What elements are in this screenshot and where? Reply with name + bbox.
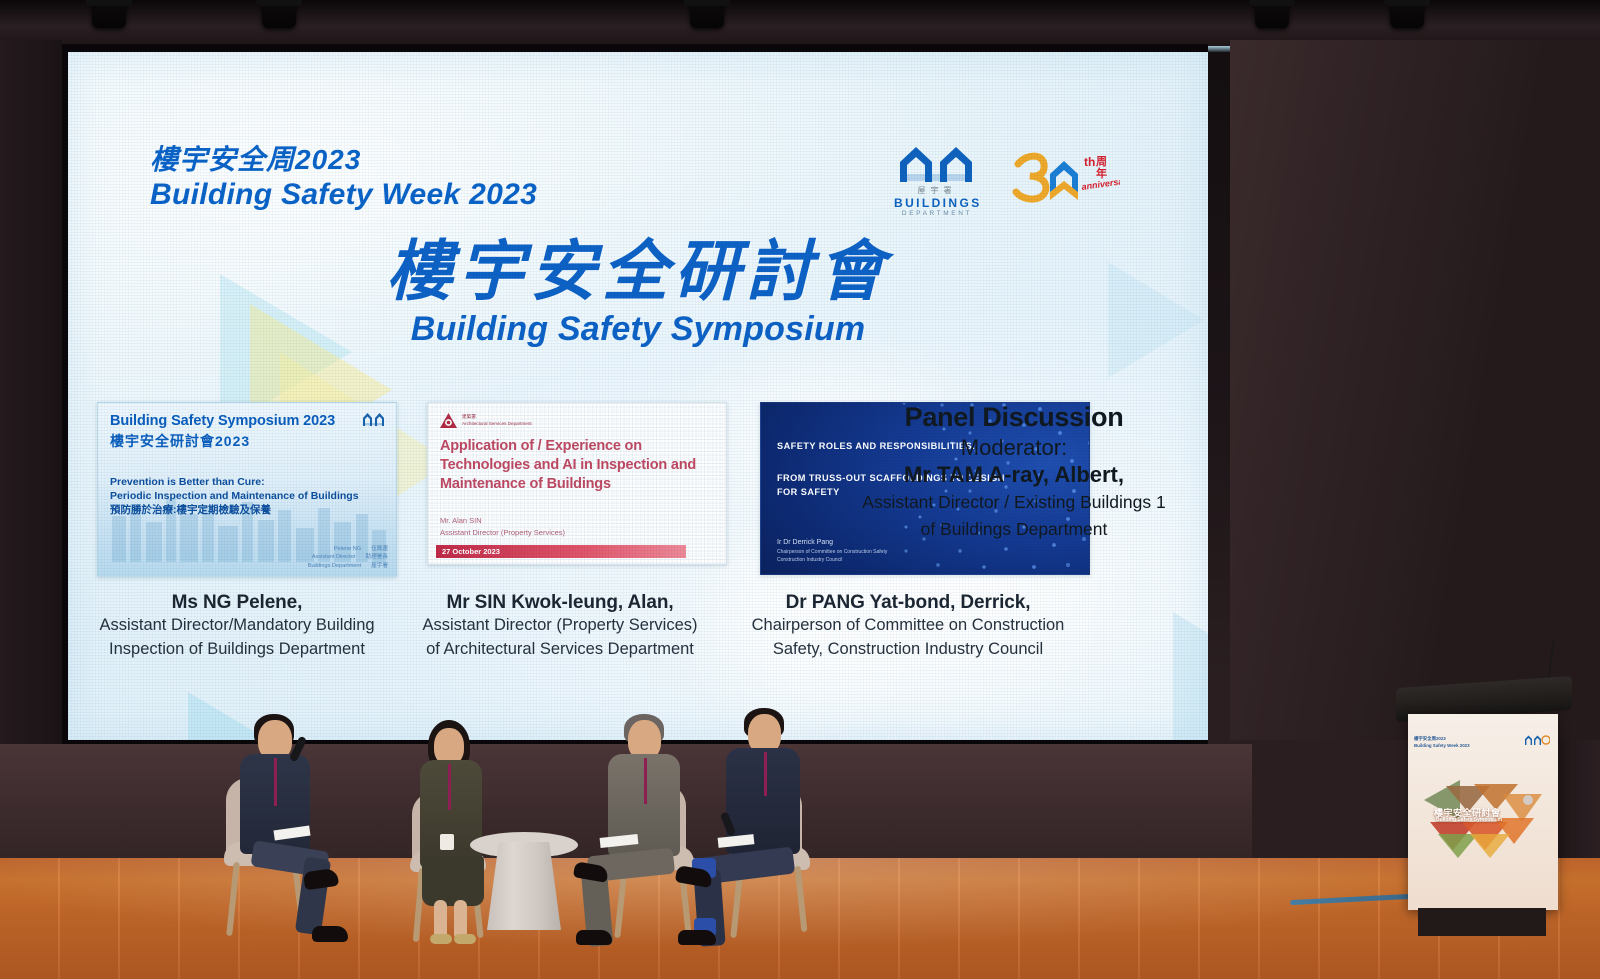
slide-logos: 屋宇署 BUILDINGS DEPARTMENT th 周 年 annivers… (894, 140, 1120, 217)
speaker-3-role-line1: Chairperson of Committee on Construction (728, 614, 1088, 638)
lanyard (448, 764, 451, 810)
panel-discussion-block: Panel Discussion Moderator: Mr TAM A-ray… (854, 402, 1174, 542)
lectern-banner-header: 樓宇安全周2023 Building Safety Week 2023 (1414, 736, 1470, 749)
skirt-lower (422, 856, 484, 906)
thumb3-speaker: Ir Dr Derrick Pang (777, 539, 833, 546)
buildings-department-icon (1524, 734, 1550, 746)
speaker-captions: Ms NG Pelene, Assistant Director/Mandato… (78, 592, 1098, 692)
anniversary-ribbon-icon: th 周 年 anniversary (1010, 148, 1120, 210)
thumbnail-prevention[interactable]: Building Safety Symposium 2023 樓宇安全研討會20… (97, 402, 397, 577)
speaker-3-role-line2: Safety, Construction Industry Council (728, 638, 1088, 662)
thumb3-role-line1: Chairperson of Committee on Construction… (777, 548, 887, 556)
lanyard (764, 752, 767, 796)
buildings-department-icon (362, 411, 386, 427)
side-table-base (487, 842, 561, 930)
buildings-department-logo: 屋宇署 BUILDINGS DEPARTMENT (894, 140, 980, 217)
bd-logo-line2: DEPARTMENT (894, 210, 980, 217)
thumb1-subtitle-zh: 預防勝於治療:樓宇定期檢驗及保養 (110, 504, 359, 518)
shoe (430, 934, 452, 944)
asd-org-en: Architectural Services Department (462, 421, 532, 428)
spotlight-icon (690, 0, 724, 28)
thumb1-subtitle: Prevention is Better than Cure: Periodic… (110, 476, 359, 518)
thumb3-role-line2: Construction Industry Council (777, 556, 887, 564)
shoe (312, 926, 348, 942)
house-arch-icon (894, 140, 980, 184)
chair-leg (795, 866, 808, 932)
dress (420, 760, 482, 868)
slide-title-zh: 樓宇安全研討會 (68, 237, 1208, 306)
panelist-4-moderator (688, 700, 838, 945)
asd-logo: 建築署 Architectural Services Department (440, 413, 532, 428)
lectern-banner-zh: 樓宇安全周2023 (1414, 736, 1470, 743)
panel-moderator-name: Mr TAM A-ray, Albert, (854, 462, 1174, 488)
shoe (576, 930, 612, 945)
event-week-title: 樓宇安全周2023 Building Safety Week 2023 (150, 144, 537, 213)
thumbnail-technologies-ai[interactable]: 建築署 Architectural Services Department Ap… (427, 402, 727, 565)
spotlight-icon (1390, 0, 1424, 28)
event-week-title-zh: 樓宇安全周2023 (150, 144, 537, 176)
speaker-caption-2: Mr SIN Kwok-leung, Alan, Assistant Direc… (400, 592, 720, 662)
thumb2-title: Application of / Experience on Technolog… (440, 437, 716, 494)
slide-main-title: 樓宇安全研討會 Building Safety Symposium (68, 237, 1208, 349)
presentation-slide: 樓宇安全周2023 Building Safety Week 2023 樓宇安全… (68, 52, 1208, 740)
bd-logo-zh: 屋宇署 (894, 185, 980, 196)
thumb1-subtitle-line2: Periodic Inspection and Maintenance of B… (110, 490, 359, 504)
thumb1-credit-name: Pelene NG (334, 545, 361, 553)
chair-leg (226, 862, 240, 936)
lectern-banner: 樓宇安全周2023 Building Safety Week 2023 (1408, 714, 1558, 910)
speaker-2-role-line2: of Architectural Services Department (400, 638, 720, 662)
lectern-title-en: Building Safety Symposium (1436, 817, 1502, 823)
speaker-1-name: Ms NG Pelene, (78, 592, 396, 614)
thumb1-header-zh: 樓宇安全研討會2023 (110, 431, 250, 451)
thumb1-credit-role-zh: 助理署長 (366, 553, 388, 561)
slide-title-en: Building Safety Symposium (68, 310, 1208, 349)
speaker-2-role-line1: Assistant Director (Property Services) (400, 614, 720, 638)
thumb1-credit-role: Assistant Director (312, 553, 356, 561)
speaker-caption-1: Ms NG Pelene, Assistant Director/Mandato… (78, 592, 396, 662)
shoe (303, 868, 339, 891)
asd-logo-text: 建築署 Architectural Services Department (462, 414, 532, 428)
lanyard (644, 758, 647, 804)
speaker-2-name: Mr SIN Kwok-leung, Alan, (400, 592, 720, 614)
anniversary-logo: th 周 年 anniversary (1010, 148, 1120, 210)
svg-text:th: th (1084, 155, 1095, 169)
bd-logo-line1: BUILDINGS (894, 196, 980, 210)
thumb1-credit-dept-zh: 屋宇署 (371, 562, 388, 570)
panel-moderator-label: Moderator: (854, 435, 1174, 461)
speaker-3-name: Dr PANG Yat-bond, Derrick, (728, 592, 1088, 614)
shoe (454, 934, 476, 944)
thumb3-role: Chairperson of Committee on Construction… (777, 548, 887, 564)
panel-moderator-role-line1: Assistant Director / Existing Buildings … (854, 490, 1174, 515)
panel-heading: Panel Discussion (854, 402, 1174, 433)
spotlight-icon (1255, 0, 1289, 28)
thumb2-speaker-block: Mr. Alan SIN Assistant Director (Propert… (440, 515, 565, 538)
asd-triangle-icon (440, 413, 457, 428)
cup (440, 834, 454, 850)
thumb1-header-en: Building Safety Symposium 2023 (110, 413, 335, 429)
thumb1-credit: Pelene NG伍鳳蓮 Assistant Director助理署長 Buil… (308, 545, 388, 570)
spotlight-icon (92, 0, 126, 28)
speaker-caption-3: Dr PANG Yat-bond, Derrick, Chairperson o… (728, 592, 1088, 662)
stage-photograph: 樓宇安全周2023 Building Safety Week 2023 樓宇安全… (0, 0, 1600, 979)
speaker-1-role-line1: Assistant Director/Mandatory Building (78, 614, 396, 638)
spotlight-icon (262, 0, 296, 28)
panelist-1 (218, 700, 368, 940)
thumb2-speaker-role: Assistant Director (Property Services) (440, 527, 565, 539)
lectern-banner-en: Building Safety Week 2023 (1414, 743, 1470, 750)
thumb1-subtitle-line1: Prevention is Better than Cure: (110, 476, 359, 490)
speaker-1-role-line2: Inspection of Buildings Department (78, 638, 396, 662)
lectern: 樓宇安全周2023 Building Safety Week 2023 (1408, 700, 1560, 940)
thumb1-credit-dept: Buildings Department (308, 562, 361, 570)
panel-moderator-role-line2: of Buildings Department (854, 517, 1174, 542)
shoe (678, 930, 716, 945)
lanyard (274, 758, 277, 806)
event-week-title-en: Building Safety Week 2023 (150, 178, 537, 213)
thumb2-date: 27 October 2023 (442, 547, 500, 556)
thumb2-speaker: Mr. Alan SIN (440, 515, 565, 527)
wall-right-panel (1230, 40, 1600, 740)
decorative-triangle (1173, 612, 1208, 740)
lectern-base (1418, 908, 1546, 936)
thumb2-date-bar: 27 October 2023 (436, 545, 686, 558)
thumb1-credit-name-zh: 伍鳳蓮 (371, 545, 388, 553)
asd-org-zh: 建築署 (462, 414, 532, 421)
